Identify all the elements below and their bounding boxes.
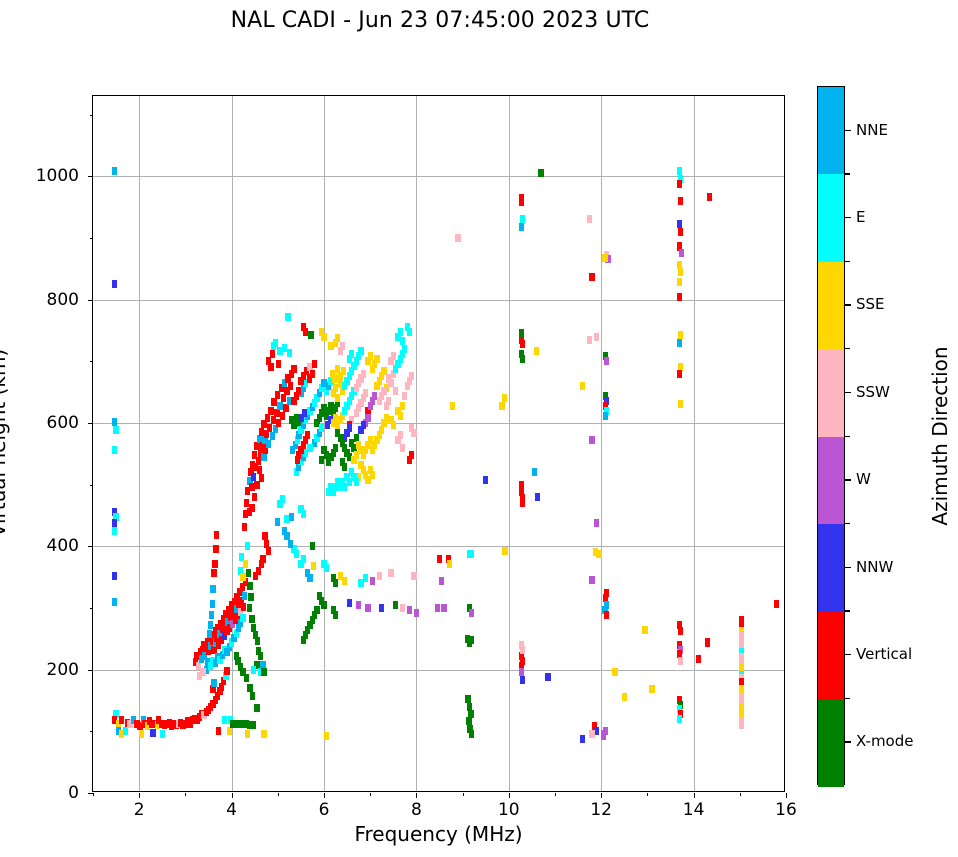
data-point xyxy=(370,471,375,479)
data-point xyxy=(469,550,474,558)
data-point xyxy=(265,414,270,422)
data-point xyxy=(356,601,361,609)
data-point xyxy=(288,540,293,548)
data-point xyxy=(271,416,276,424)
data-point xyxy=(208,621,213,629)
x-tick-label: 8 xyxy=(411,800,422,820)
data-point xyxy=(707,193,712,201)
y-tick-minor xyxy=(90,115,93,116)
x-tick-label: 12 xyxy=(590,800,612,820)
y-tick-label: 400 xyxy=(47,536,79,556)
data-point xyxy=(123,727,128,735)
data-point xyxy=(324,732,329,740)
data-point xyxy=(268,407,273,415)
data-point xyxy=(407,606,412,614)
colorbar-segment-vertical[interactable] xyxy=(818,611,844,699)
data-point xyxy=(256,457,261,465)
y-tick-minor xyxy=(90,485,93,486)
colorbar-segment-sse[interactable] xyxy=(818,262,844,350)
data-point xyxy=(342,463,347,471)
y-tick-label: 800 xyxy=(47,290,79,310)
data-point xyxy=(603,412,608,420)
data-point xyxy=(677,180,682,188)
data-point xyxy=(677,293,682,301)
data-point xyxy=(210,600,215,608)
data-point xyxy=(307,444,312,452)
data-point xyxy=(295,456,300,464)
data-point xyxy=(520,355,525,363)
data-point xyxy=(312,360,317,368)
data-point xyxy=(696,655,701,663)
data-point xyxy=(112,572,117,580)
x-tick xyxy=(139,793,140,798)
data-point xyxy=(211,679,216,687)
data-point xyxy=(277,402,282,410)
data-point xyxy=(310,542,315,550)
data-point xyxy=(414,609,419,617)
data-point xyxy=(520,499,525,507)
data-point xyxy=(270,432,275,440)
colorbar-tick xyxy=(845,130,851,131)
colorbar-tick xyxy=(845,217,851,218)
data-point xyxy=(254,704,259,712)
data-point xyxy=(214,531,219,539)
data-point xyxy=(271,398,276,406)
data-point xyxy=(678,228,683,236)
data-point xyxy=(545,673,550,681)
data-point xyxy=(224,667,229,675)
data-point xyxy=(280,412,285,420)
data-point xyxy=(678,268,683,276)
x-tick xyxy=(786,793,787,798)
data-point xyxy=(301,510,306,518)
data-point xyxy=(254,481,259,489)
x-tick-label: 14 xyxy=(683,800,705,820)
data-point xyxy=(587,336,592,344)
x-tick-label: 16 xyxy=(775,800,797,820)
data-point xyxy=(594,333,599,341)
data-point xyxy=(398,328,403,336)
data-point xyxy=(400,444,405,452)
x-tick-label: 2 xyxy=(134,800,145,820)
data-point xyxy=(356,441,361,449)
data-point xyxy=(210,585,215,593)
data-point xyxy=(351,456,356,464)
data-point xyxy=(365,604,370,612)
data-point xyxy=(112,446,117,454)
data-point xyxy=(242,592,247,600)
x-tick xyxy=(509,793,510,798)
data-point xyxy=(580,735,585,743)
figure-title: NAL CADI - Jun 23 07:45:00 2023 UTC xyxy=(0,8,880,33)
data-point xyxy=(273,339,278,347)
data-point xyxy=(411,572,416,580)
data-point xyxy=(319,424,324,432)
data-point xyxy=(622,693,627,701)
data-point xyxy=(409,372,414,380)
data-point xyxy=(678,197,683,205)
data-point xyxy=(305,569,310,577)
data-point xyxy=(246,569,251,577)
data-point xyxy=(301,636,306,644)
data-point xyxy=(469,609,474,617)
data-point xyxy=(247,604,252,612)
data-point xyxy=(160,730,165,738)
data-point xyxy=(677,370,682,378)
x-tick xyxy=(694,793,695,798)
data-point xyxy=(361,370,366,378)
data-point xyxy=(469,636,474,644)
data-point xyxy=(612,668,617,676)
y-axis-title: Virtual height (km) xyxy=(0,349,10,538)
data-point xyxy=(287,349,292,357)
data-point xyxy=(602,254,607,262)
colorbar-boundary-tick xyxy=(845,348,850,349)
data-point xyxy=(275,518,280,526)
data-point xyxy=(209,611,214,619)
data-point xyxy=(303,328,308,336)
data-point xyxy=(245,730,250,738)
data-point xyxy=(274,409,279,417)
data-point xyxy=(519,223,524,231)
x-tick-minor xyxy=(463,793,464,796)
data-point xyxy=(251,666,256,674)
x-tick-minor xyxy=(185,793,186,796)
data-point xyxy=(441,604,446,612)
colorbar-boundary-tick xyxy=(845,173,850,174)
data-point xyxy=(393,601,398,609)
data-point xyxy=(502,547,507,555)
colorbar-tick xyxy=(845,479,851,480)
data-point xyxy=(283,404,288,412)
data-point xyxy=(398,431,403,439)
colorbar-label-vertical: Vertical xyxy=(856,645,912,663)
colorbar[interactable] xyxy=(817,86,845,785)
data-point xyxy=(324,564,329,572)
data-point xyxy=(649,685,654,693)
x-tick-minor xyxy=(740,793,741,796)
data-point xyxy=(296,387,301,395)
data-point xyxy=(678,627,683,635)
colorbar-label-x-mode: X-mode xyxy=(856,732,913,750)
data-point xyxy=(261,730,266,738)
data-point xyxy=(250,692,255,700)
data-point xyxy=(268,363,273,371)
data-point xyxy=(361,421,366,429)
data-point xyxy=(358,347,363,355)
colorbar-label-sse: SSE xyxy=(856,295,885,313)
colorbar-boundary-tick xyxy=(845,698,850,699)
data-point xyxy=(255,637,260,645)
data-point xyxy=(332,374,337,382)
data-point xyxy=(349,350,354,358)
data-point xyxy=(519,198,524,206)
y-tick-label: 600 xyxy=(47,413,79,433)
data-point xyxy=(340,342,345,350)
y-tick xyxy=(88,793,93,794)
data-point xyxy=(535,493,540,501)
data-point xyxy=(604,611,609,619)
data-point xyxy=(519,481,524,489)
data-point xyxy=(266,547,271,555)
data-point xyxy=(534,347,539,355)
x-tick-label: 10 xyxy=(498,800,520,820)
y-tick-minor xyxy=(90,361,93,362)
data-point xyxy=(328,342,333,350)
data-point xyxy=(589,436,594,444)
colorbar-segment-ssw[interactable] xyxy=(818,349,844,437)
colorbar-segment-nnw[interactable] xyxy=(818,524,844,612)
data-point xyxy=(594,727,599,735)
data-point xyxy=(409,451,414,459)
data-point xyxy=(112,598,117,606)
data-point xyxy=(589,730,594,738)
data-point xyxy=(333,579,338,587)
data-point xyxy=(335,394,340,402)
data-point xyxy=(365,414,370,422)
x-tick-minor xyxy=(370,793,371,796)
y-tick xyxy=(88,546,93,547)
data-point xyxy=(291,365,296,373)
data-point xyxy=(285,313,290,321)
data-point xyxy=(252,493,257,501)
x-tick xyxy=(324,793,325,798)
data-point xyxy=(241,603,246,611)
data-point xyxy=(321,601,326,609)
ionogram-figure: NAL CADI - Jun 23 07:45:00 2023 UTC 2468… xyxy=(0,0,958,857)
data-point xyxy=(532,468,537,476)
data-point xyxy=(344,473,349,481)
data-point xyxy=(379,604,384,612)
data-point xyxy=(302,409,307,417)
data-point xyxy=(538,169,543,177)
x-tick-label: 6 xyxy=(319,800,330,820)
data-point xyxy=(326,458,331,466)
data-point xyxy=(321,333,326,341)
data-point xyxy=(411,429,416,437)
colorbar-title: Azimuth Direction xyxy=(928,346,952,525)
data-point xyxy=(520,340,525,348)
data-point xyxy=(112,167,117,175)
data-point xyxy=(437,555,442,563)
data-point xyxy=(276,419,281,427)
y-tick-minor xyxy=(90,731,93,732)
colorbar-boundary-tick xyxy=(845,261,850,262)
data-point xyxy=(358,461,363,469)
x-tick-minor xyxy=(555,793,556,796)
data-point xyxy=(450,402,455,410)
data-point xyxy=(257,466,262,474)
colorbar-label-ssw: SSW xyxy=(856,383,890,401)
data-point xyxy=(370,577,375,585)
colorbar-tick xyxy=(845,741,851,742)
data-point xyxy=(240,614,245,622)
data-point xyxy=(319,456,324,464)
data-point xyxy=(388,569,393,577)
x-tick-minor xyxy=(278,793,279,796)
data-point xyxy=(150,729,155,737)
data-point xyxy=(342,577,347,585)
data-point xyxy=(520,676,525,684)
data-point xyxy=(601,732,606,740)
data-point xyxy=(587,215,592,223)
data-point xyxy=(604,357,609,365)
scatter-data-layer xyxy=(93,96,784,791)
x-tick xyxy=(232,793,233,798)
data-point xyxy=(347,424,352,432)
data-point xyxy=(280,495,285,503)
data-point xyxy=(258,652,263,660)
data-point xyxy=(407,328,412,336)
data-point xyxy=(580,382,585,390)
data-point xyxy=(112,527,117,535)
data-point xyxy=(677,339,682,347)
data-point xyxy=(213,545,218,553)
data-point xyxy=(253,572,258,580)
data-point xyxy=(113,426,118,434)
data-point xyxy=(384,414,389,422)
data-point xyxy=(212,560,217,568)
colorbar-boundary-tick xyxy=(845,436,850,437)
colorbar-tick xyxy=(845,567,851,568)
data-point xyxy=(248,593,253,601)
data-point xyxy=(335,429,340,437)
colorbar-boundary-tick xyxy=(845,610,850,611)
data-point xyxy=(112,280,117,288)
data-point xyxy=(234,652,239,660)
data-point xyxy=(139,730,144,738)
data-point xyxy=(400,402,405,410)
data-point xyxy=(311,562,316,570)
data-point xyxy=(377,572,382,580)
y-tick-label: 0 xyxy=(68,783,79,803)
data-point xyxy=(288,382,293,390)
data-point xyxy=(402,345,407,353)
data-point xyxy=(245,542,250,550)
data-point xyxy=(267,424,272,432)
data-point xyxy=(678,400,683,408)
data-point xyxy=(393,387,398,395)
data-point xyxy=(282,527,287,535)
data-point xyxy=(244,499,249,507)
data-point xyxy=(289,513,294,521)
colorbar-segment-nne[interactable] xyxy=(818,87,844,175)
colorbar-tick xyxy=(845,654,851,655)
data-point xyxy=(321,446,326,454)
data-point xyxy=(335,334,340,342)
colorbar-segment-w[interactable] xyxy=(818,437,844,525)
y-tick-minor xyxy=(90,608,93,609)
y-tick-minor xyxy=(90,238,93,239)
colorbar-label-e: E xyxy=(856,208,865,226)
data-point xyxy=(333,611,338,619)
data-point xyxy=(266,440,271,448)
data-point xyxy=(402,392,407,400)
data-point xyxy=(439,577,444,585)
data-point xyxy=(119,716,124,724)
data-point xyxy=(243,560,248,568)
y-tick xyxy=(88,176,93,177)
x-tick-minor xyxy=(93,793,94,796)
data-point xyxy=(739,721,744,729)
data-point xyxy=(374,355,379,363)
data-point xyxy=(247,684,252,692)
data-point xyxy=(211,569,216,577)
data-point xyxy=(400,604,405,612)
data-point xyxy=(261,453,266,461)
data-point xyxy=(400,337,405,345)
data-point xyxy=(679,249,684,257)
colorbar-label-nnw: NNW xyxy=(856,558,893,576)
data-point xyxy=(270,350,275,358)
y-tick-label: 200 xyxy=(47,660,79,680)
colorbar-segment-e[interactable] xyxy=(818,174,844,262)
data-point xyxy=(589,273,594,281)
data-point xyxy=(207,630,212,638)
data-point xyxy=(310,370,315,378)
data-point xyxy=(347,599,352,607)
data-point xyxy=(705,638,710,646)
data-point xyxy=(391,421,396,429)
data-point xyxy=(593,548,598,556)
data-point xyxy=(227,727,232,735)
data-point xyxy=(363,574,368,582)
data-point xyxy=(381,387,386,395)
x-tick-minor xyxy=(647,793,648,796)
data-point xyxy=(370,446,375,454)
data-point xyxy=(349,468,354,476)
x-tick xyxy=(601,793,602,798)
data-point xyxy=(455,234,460,242)
data-point xyxy=(589,576,594,584)
data-point xyxy=(249,615,254,623)
data-point xyxy=(435,604,440,612)
data-point xyxy=(774,600,779,608)
data-point xyxy=(112,418,117,426)
data-point xyxy=(398,412,403,420)
x-axis-title: Frequency (MHz) xyxy=(92,822,785,846)
y-tick xyxy=(88,300,93,301)
data-point xyxy=(469,730,474,738)
data-point xyxy=(251,721,256,729)
colorbar-segment-x-mode[interactable] xyxy=(818,699,844,787)
data-point xyxy=(222,716,227,724)
data-point xyxy=(594,519,599,527)
data-point xyxy=(240,573,245,581)
data-point xyxy=(483,476,488,484)
y-tick xyxy=(88,670,93,671)
data-point xyxy=(276,360,281,368)
data-point xyxy=(247,582,252,590)
data-point xyxy=(341,367,346,375)
plot-area[interactable]: 24681012141602004006008001000 xyxy=(92,95,785,792)
data-point xyxy=(216,727,221,735)
data-point xyxy=(519,329,524,337)
data-point xyxy=(519,641,524,649)
data-point xyxy=(678,657,683,665)
data-point xyxy=(242,523,247,531)
data-point xyxy=(677,278,682,286)
y-tick-label: 1000 xyxy=(36,166,79,186)
data-point xyxy=(499,402,504,410)
colorbar-tick xyxy=(845,392,851,393)
colorbar-tick xyxy=(845,304,851,305)
data-point xyxy=(298,560,303,568)
colorbar-label-w: W xyxy=(856,470,871,488)
data-point xyxy=(281,394,286,402)
data-point xyxy=(261,668,266,676)
x-tick-label: 4 xyxy=(226,800,237,820)
